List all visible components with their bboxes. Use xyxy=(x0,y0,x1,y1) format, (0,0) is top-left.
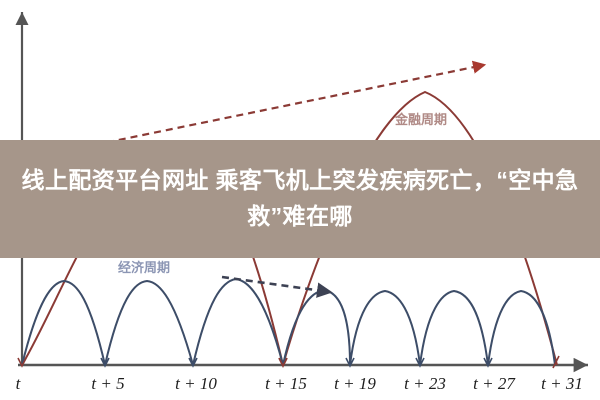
headline-overlay-band: 线上配资平台网址 乘客飞机上突发疾病死亡，“空中急救”难在哪 xyxy=(0,140,600,258)
series-line-economic xyxy=(22,279,555,365)
x-tick-label: t + 19 xyxy=(334,374,376,393)
series-label-economic: 经济周期 xyxy=(118,260,170,275)
x-tick-label: t + 15 xyxy=(265,374,307,393)
economic-trend-arrow xyxy=(222,277,330,292)
headline-text: 线上配资平台网址 乘客飞机上突发疾病死亡，“空中急救”难在哪 xyxy=(14,163,586,234)
x-tick-label: t + 10 xyxy=(175,374,217,393)
x-tick-label: t + 27 xyxy=(473,374,516,393)
financial-trend-arrow xyxy=(60,65,484,152)
chart-screenshot: 金融周期 经济周期 t t + 5 t + 10 t + 15 t + 19 t… xyxy=(0,0,600,400)
series-label-financial: 金融周期 xyxy=(394,112,447,127)
x-tick-label: t + 23 xyxy=(404,374,446,393)
x-axis-tick-labels: t t + 5 t + 10 t + 15 t + 19 t + 23 t + … xyxy=(16,374,583,393)
x-tick-label: t + 5 xyxy=(91,374,124,393)
x-tick-label: t xyxy=(16,374,22,393)
x-tick-label: t + 31 xyxy=(541,374,583,393)
